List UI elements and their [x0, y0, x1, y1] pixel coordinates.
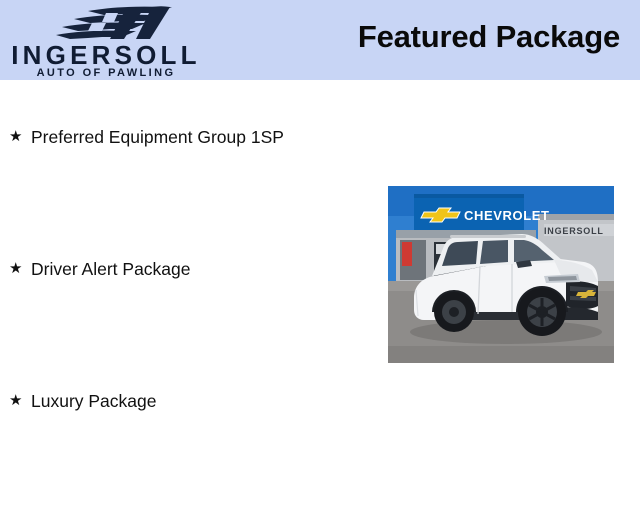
header-band: INGERSOLL AUTO OF PAWLING Featured Packa… [0, 0, 640, 80]
svg-text:INGERSOLL: INGERSOLL [544, 226, 604, 236]
feature-label: Preferred Equipment Group 1SP [31, 124, 284, 150]
svg-text:CHEVROLET: CHEVROLET [464, 208, 550, 223]
list-item: ★ Luxury Package [0, 388, 380, 520]
dealer-brand-block: INGERSOLL AUTO OF PAWLING [0, 0, 210, 80]
vehicle-photo: CHEVROLET INGERSOLL [388, 186, 614, 363]
list-item: ★ Preferred Equipment Group 1SP [0, 124, 380, 256]
star-bullet-icon: ★ [9, 256, 31, 282]
ingersoll-wing-logo-icon [52, 6, 197, 40]
brand-subtitle: AUTO OF PAWLING [8, 68, 204, 79]
star-bullet-icon: ★ [9, 124, 31, 150]
featured-package-list: ★ Preferred Equipment Group 1SP ★ Driver… [0, 124, 380, 520]
feature-label: Driver Alert Package [31, 256, 191, 282]
star-bullet-icon: ★ [9, 388, 31, 414]
list-item: ★ Driver Alert Package [0, 256, 380, 388]
brand-name: INGERSOLL [8, 42, 204, 68]
feature-label: Luxury Package [31, 388, 157, 414]
page-title: Featured Package [358, 19, 620, 55]
